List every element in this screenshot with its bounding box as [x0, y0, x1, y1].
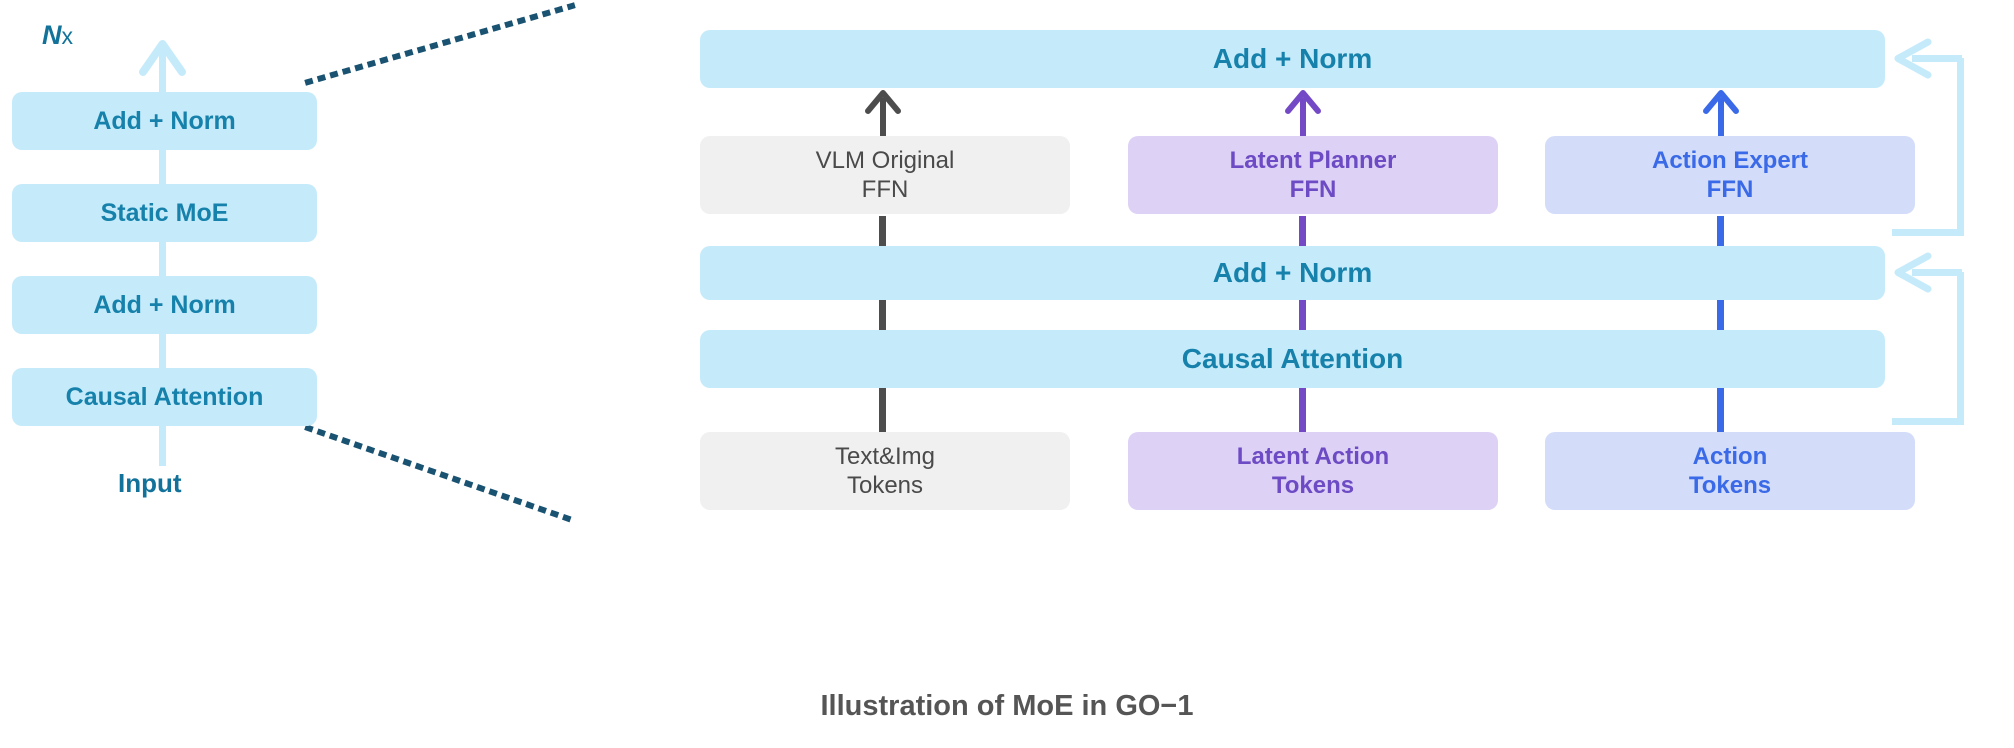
left-block-static-moe[interactable]: Static MoE: [12, 184, 317, 242]
dotted-connector-bottom-icon: [300, 420, 580, 530]
ffn-block-action-expert[interactable]: Action Expert FFN: [1545, 136, 1915, 214]
repeat-count-suffix: x: [62, 23, 74, 49]
token-block-action[interactable]: Action Tokens: [1545, 432, 1915, 510]
figure-caption: Illustration of MoE in GO−1: [0, 690, 2014, 723]
ffn-block-latent-planner[interactable]: Latent Planner FFN: [1128, 136, 1498, 214]
token-block-latent-action[interactable]: Latent Action Tokens: [1128, 432, 1498, 510]
connector-mid-addnorm-to-attn-latent: [1299, 300, 1306, 332]
ffn-block-vlm-original[interactable]: VLM Original FFN: [700, 136, 1070, 214]
repeat-count-label: Nx: [42, 20, 73, 51]
connector-text-tokens-to-attn: [879, 388, 886, 432]
token-block-text-img[interactable]: Text&Img Tokens: [700, 432, 1070, 510]
left-block-add-norm-bottom[interactable]: Add + Norm: [12, 276, 317, 334]
input-label: Input: [118, 468, 182, 499]
right-block-add-norm-mid[interactable]: Add + Norm: [700, 246, 1885, 300]
residual-arrowhead-top-icon: [1888, 36, 1934, 82]
repeat-count-value: N: [42, 20, 62, 50]
connector-action-tokens-to-attn: [1717, 388, 1724, 432]
right-block-add-norm-top[interactable]: Add + Norm: [700, 30, 1885, 88]
connector-mid-addnorm-to-attn-text: [879, 300, 886, 332]
left-block-add-norm-top[interactable]: Add + Norm: [12, 92, 317, 150]
diagram-canvas: Nx Add + Norm Static MoE Add + Norm Caus…: [0, 0, 2014, 748]
left-flow-arrow-icon: [138, 32, 188, 78]
connector-latent-tokens-to-attn: [1299, 388, 1306, 432]
connector-mid-addnorm-to-attn-action: [1717, 300, 1724, 332]
dotted-connector-top-icon: [300, 0, 580, 90]
residual-arrowhead-mid-icon: [1888, 250, 1934, 296]
left-block-causal-attention[interactable]: Causal Attention: [12, 368, 317, 426]
right-block-causal-attention[interactable]: Causal Attention: [700, 330, 1885, 388]
